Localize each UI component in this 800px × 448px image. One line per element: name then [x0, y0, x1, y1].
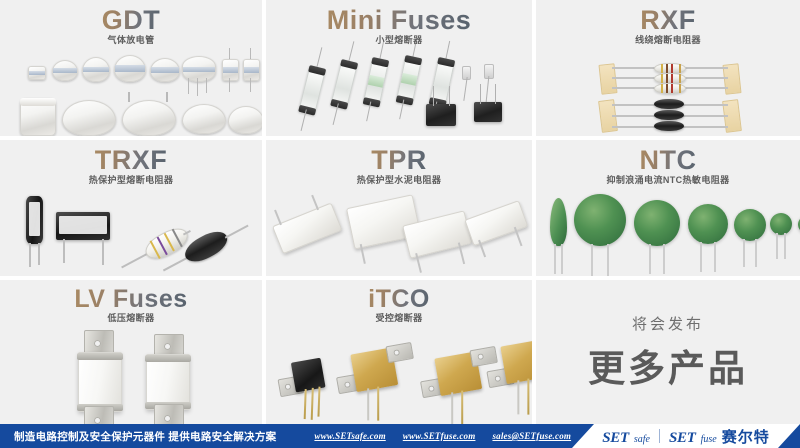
logo-setfuse-main: SET	[669, 430, 696, 447]
panel-title: TRXF	[95, 146, 168, 174]
product-photo-ntc	[536, 184, 800, 276]
panel-title: LV Fuses	[74, 286, 187, 312]
panel-subtitle: 线绕熔断电阻器	[536, 36, 800, 46]
footer-tagline: 制造电路控制及安全保护元器件 提供电路安全解决方案	[14, 429, 276, 444]
panel-title: NTC	[640, 146, 697, 174]
triangle-left-icon	[572, 424, 594, 448]
product-photo-itco	[266, 324, 532, 424]
product-photo-trxf	[0, 184, 262, 276]
product-catalog-sheet: GDT 气体放电管	[0, 0, 800, 448]
panel-header: LV Fuses 低压熔断器	[0, 286, 262, 324]
panel-header: TPR 热保护型水泥电阻器	[266, 146, 532, 186]
product-panel-gdt[interactable]: GDT 气体放电管	[0, 0, 262, 136]
product-panel-rxf[interactable]: RXF 线绕熔断电阻器	[536, 0, 800, 136]
panel-subtitle: 热保护型熔断电阻器	[0, 176, 262, 186]
logo-divider	[659, 429, 660, 443]
panel-subtitle: 热保护型水泥电阻器	[266, 176, 532, 186]
product-panel-coming-soon[interactable]: 将会发布 更多产品	[536, 280, 800, 424]
coming-soon-title: 更多产品	[588, 338, 748, 392]
footer-bar: 制造电路控制及安全保护元器件 提供电路安全解决方案 www.SETsafe.co…	[0, 424, 800, 448]
product-panel-ntc[interactable]: NTC 抑制浪涌电流NTC热敏电阻器	[536, 140, 800, 276]
panel-title: iTCO	[368, 286, 430, 312]
footer-link-email[interactable]: sales@SETfuse.com	[492, 431, 571, 441]
product-photo-gdt	[0, 44, 262, 136]
panel-title: RXF	[640, 6, 696, 34]
panel-title: Mini Fuses	[327, 6, 472, 34]
coming-soon-label: 将会发布	[632, 313, 704, 334]
footer-link-setfuse[interactable]: www.SETfuse.com	[403, 431, 476, 441]
footer-links: www.SETsafe.com www.SETfuse.com sales@SE…	[314, 431, 571, 441]
product-panel-mini-fuses[interactable]: Mini Fuses 小型熔断器	[266, 0, 532, 136]
logo-brand-cn: 赛尔特	[722, 426, 770, 447]
coming-soon-block: 将会发布 更多产品	[536, 280, 800, 424]
panel-subtitle: 抑制浪涌电流NTC热敏电阻器	[536, 176, 800, 186]
product-panel-tpr[interactable]: TPR 热保护型水泥电阻器	[266, 140, 532, 276]
panel-header: NTC 抑制浪涌电流NTC热敏电阻器	[536, 146, 800, 186]
panel-title: TPR	[371, 146, 427, 174]
panel-header: GDT 气体放电管	[0, 6, 262, 46]
logo-setsafe-main: SET	[602, 430, 629, 447]
brand-logo[interactable]: SET safe SET fuse 赛尔特	[572, 424, 800, 448]
panel-subtitle: 气体放电管	[0, 36, 262, 46]
logo-setfuse-sub: fuse	[701, 434, 717, 445]
logo-setsafe-sub: safe	[634, 434, 650, 445]
product-panel-itco[interactable]: iTCO 受控熔断器	[266, 280, 532, 424]
logo-lockup: SET safe SET fuse 赛尔特	[602, 426, 769, 447]
panel-header: RXF 线绕熔断电阻器	[536, 6, 800, 46]
product-panel-trxf[interactable]: TRXF 热保护型熔断电阻器	[0, 140, 262, 276]
panel-header: iTCO 受控熔断器	[266, 286, 532, 324]
product-photo-lv-fuses	[0, 324, 262, 424]
panel-header: Mini Fuses 小型熔断器	[266, 6, 532, 46]
product-grid: GDT 气体放电管	[0, 0, 800, 424]
footer-link-setsafe[interactable]: www.SETsafe.com	[314, 431, 385, 441]
product-photo-rxf	[536, 44, 800, 136]
panel-header: TRXF 热保护型熔断电阻器	[0, 146, 262, 186]
product-panel-lv-fuses[interactable]: LV Fuses 低压熔断器	[0, 280, 262, 424]
panel-subtitle: 小型熔断器	[266, 36, 532, 46]
panel-subtitle: 受控熔断器	[266, 314, 532, 324]
panel-subtitle: 低压熔断器	[0, 314, 262, 324]
product-photo-tpr	[266, 184, 532, 276]
product-photo-mini-fuses	[266, 44, 532, 136]
triangle-right-icon	[778, 424, 800, 448]
panel-title: GDT	[102, 6, 161, 34]
